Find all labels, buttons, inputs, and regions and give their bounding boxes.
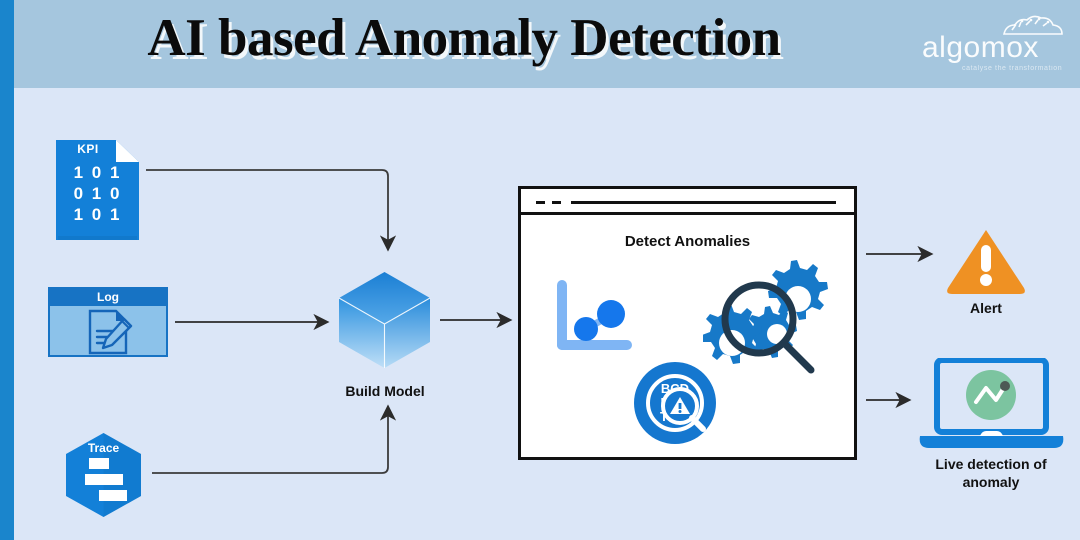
live-detection-label-line: anomaly xyxy=(906,473,1076,491)
laptop-monitoring-icon xyxy=(918,358,1065,454)
live-detection-label-line: Live detection of xyxy=(906,455,1076,473)
live-detection-label: Live detection of anomaly xyxy=(906,455,1076,491)
alert-label: Alert xyxy=(916,300,1056,316)
kpi-document[interactable]: KPI 1 0 1 0 1 0 1 0 1 xyxy=(56,140,139,240)
chrome-dash-icon xyxy=(536,201,545,204)
kpi-label: KPI xyxy=(56,142,120,156)
build-model-label: Build Model xyxy=(317,383,453,399)
detect-anomalies-title: Detect Anomalies xyxy=(521,233,854,250)
anomaly-scan-badge-icon: BCD KI TUV xyxy=(633,361,717,445)
scatter-chart-icon xyxy=(553,279,635,357)
live-detection-laptop[interactable] xyxy=(918,358,1065,454)
trace-label: Trace xyxy=(61,441,146,455)
log-card[interactable]: Log xyxy=(48,287,168,357)
kpi-bit-row: 1 0 1 xyxy=(56,162,139,183)
alert-indicator[interactable] xyxy=(945,228,1027,296)
kpi-binary-rows: 1 0 1 0 1 0 1 0 1 xyxy=(56,162,139,225)
gears-magnifier-icon xyxy=(703,251,831,377)
chrome-dash-icon xyxy=(552,201,561,204)
address-bar[interactable] xyxy=(571,201,836,204)
kpi-bit-row: 0 1 0 xyxy=(56,183,139,204)
log-label: Log xyxy=(50,289,166,306)
trace-hexagon[interactable]: Trace xyxy=(61,432,146,518)
diagram-canvas: AI based Anomaly Detection algomox catal… xyxy=(0,0,1080,540)
log-document-pen-icon xyxy=(86,309,134,355)
kpi-bit-row: 1 0 1 xyxy=(56,204,139,225)
connector-kpi-to-model xyxy=(146,170,388,248)
window-chrome-bar xyxy=(521,189,854,215)
cube-shape xyxy=(337,270,432,370)
warning-triangle-icon xyxy=(945,228,1027,296)
detect-anomalies-window[interactable]: Detect Anomalies xyxy=(518,186,857,460)
connector-trace-to-model xyxy=(152,408,388,473)
build-model-cube[interactable] xyxy=(337,270,432,370)
